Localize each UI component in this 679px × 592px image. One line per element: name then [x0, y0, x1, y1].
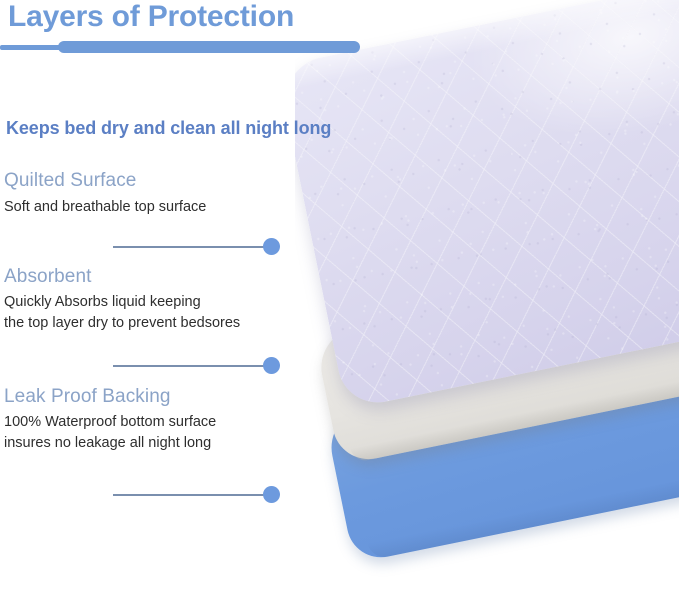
- page-title: Layers of Protection: [8, 0, 294, 34]
- title-underline: [0, 40, 360, 56]
- feature-description-line: 100% Waterproof bottom surface: [4, 412, 216, 433]
- feature-connector-absorbent: [113, 357, 285, 375]
- feature-title: Leak Proof Backing: [4, 386, 216, 408]
- quilted-surface-layer: [295, 0, 679, 410]
- feature-description: 100% Waterproof bottom surface insures n…: [4, 412, 216, 454]
- page-subtitle: Keeps bed dry and clean all night long: [6, 118, 331, 139]
- connector-line: [113, 246, 265, 248]
- feature-quilted-surface: Quilted Surface Soft and breathable top …: [4, 170, 206, 218]
- title-underline-thin-segment: [0, 45, 64, 50]
- connector-dot: [263, 357, 280, 374]
- connector-line: [113, 365, 265, 367]
- feature-description-line: Soft and breathable top surface: [4, 197, 206, 218]
- connector-dot: [263, 486, 280, 503]
- connector-line: [113, 494, 265, 496]
- feature-description-line: Quickly Absorbs liquid keeping: [4, 292, 240, 313]
- feature-description: Soft and breathable top surface: [4, 197, 206, 218]
- feature-leak-proof-backing: Leak Proof Backing 100% Waterproof botto…: [4, 386, 216, 454]
- feature-absorbent: Absorbent Quickly Absorbs liquid keeping…: [4, 266, 240, 334]
- title-underline-thick-segment: [58, 41, 360, 53]
- feature-title: Quilted Surface: [4, 170, 206, 192]
- feature-title: Absorbent: [4, 266, 240, 288]
- feature-connector-quilted-surface: [113, 238, 285, 256]
- connector-dot: [263, 238, 280, 255]
- feature-connector-leak-proof-backing: [113, 486, 285, 504]
- feature-description: Quickly Absorbs liquid keeping the top l…: [4, 292, 240, 334]
- feature-description-line: insures no leakage all night long: [4, 433, 216, 454]
- product-layer-illustration: [295, 0, 679, 592]
- feature-description-line: the top layer dry to prevent bedsores: [4, 313, 240, 334]
